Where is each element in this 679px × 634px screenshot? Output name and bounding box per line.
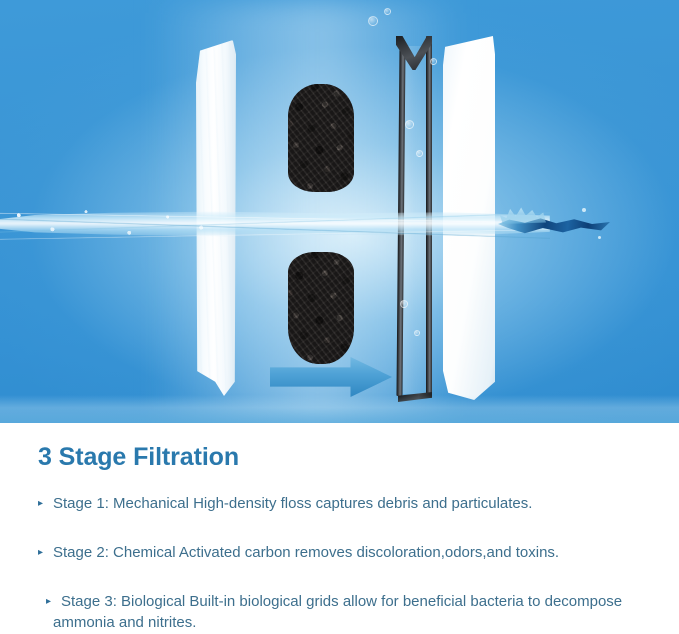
- bubble-icon: [430, 58, 437, 65]
- water-stream-droplets: [0, 202, 230, 246]
- triangle-bullet-icon: ▸: [38, 543, 53, 562]
- stage-3-text: Stage 3: Biological Built-in biological …: [53, 592, 645, 633]
- bubble-icon: [416, 150, 423, 157]
- water-splash-image: [498, 206, 616, 246]
- filtration-infographic: 3 Stage Filtration ▸ Stage 1: Mechanical…: [0, 0, 679, 634]
- carbon-granules-bottom-image: [288, 252, 354, 364]
- bubble-icon: [400, 300, 408, 308]
- water-stream-image: [0, 198, 550, 252]
- list-item: ▸ Stage 2: Chemical Activated carbon rem…: [38, 543, 645, 563]
- hero-photo: [0, 0, 679, 423]
- splash-droplet: [582, 208, 586, 212]
- stage-2-text: Stage 2: Chemical Activated carbon remov…: [53, 543, 645, 563]
- page-title: 3 Stage Filtration: [38, 443, 645, 472]
- bubble-icon: [368, 16, 378, 26]
- list-item: ▸ Stage 3: Biological Built-in biologica…: [38, 592, 645, 633]
- stage-1-text: Stage 1: Mechanical High-density floss c…: [53, 494, 645, 514]
- stage-list: ▸ Stage 1: Mechanical High-density floss…: [38, 494, 645, 633]
- carbon-granules-top-image: [288, 84, 354, 192]
- splash-crown: [500, 206, 546, 224]
- list-item: ▸ Stage 1: Mechanical High-density floss…: [38, 494, 645, 514]
- triangle-bullet-icon: ▸: [38, 494, 53, 513]
- splash-droplet: [598, 236, 601, 239]
- photo-bottom-waterline: [0, 395, 679, 423]
- description-panel: 3 Stage Filtration ▸ Stage 1: Mechanical…: [0, 423, 679, 634]
- bubble-icon: [405, 120, 414, 129]
- bubble-icon: [414, 330, 420, 336]
- bubble-icon: [384, 8, 391, 15]
